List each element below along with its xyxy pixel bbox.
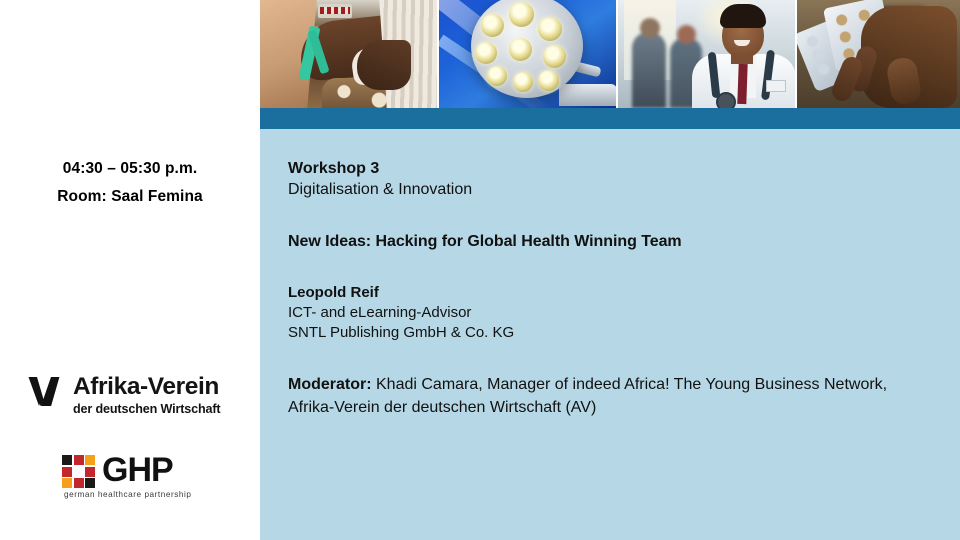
spacer-2 <box>288 252 946 283</box>
ghp-grid-cell-1 <box>74 455 84 465</box>
ghp-tagline: german healthcare partnership <box>64 490 191 499</box>
ghp-grid-cell-4 <box>74 467 84 477</box>
left-sidebar: 04:30 – 05:30 p.m. Room: Saal Femina Afr… <box>0 0 260 540</box>
speaker-organisation: SNTL Publishing GmbH & Co. KG <box>288 323 946 343</box>
right-panel: Workshop 3 Digitalisation & Innovation N… <box>260 0 960 540</box>
ghp-grid-cell-8 <box>85 478 95 488</box>
moderator-line: Moderator: Khadi Camara, Manager of inde… <box>288 373 888 419</box>
av-monogram-icon <box>27 375 65 407</box>
header-image-strip <box>260 0 960 108</box>
session-title: New Ideas: Hacking for Global Health Win… <box>288 231 946 252</box>
teal-divider-band <box>260 108 960 129</box>
moderator-label: Moderator: <box>288 376 372 393</box>
ghp-grid-cell-2 <box>85 455 95 465</box>
schedule-block: 04:30 – 05:30 p.m. Room: Saal Femina <box>0 155 260 211</box>
photo-blood-draw <box>260 0 437 108</box>
afrika-verein-wordmark: Afrika-Verein der deutschen Wirtschaft <box>73 374 220 417</box>
afrika-verein-subtitle: der deutschen Wirtschaft <box>73 402 220 417</box>
ghp-grid-cell-5 <box>85 467 95 477</box>
session-content-panel: Workshop 3 Digitalisation & Innovation N… <box>260 129 960 540</box>
ghp-grid-cell-7 <box>74 478 84 488</box>
photo-medication <box>797 0 960 108</box>
afrika-verein-title: Afrika-Verein <box>73 374 220 400</box>
session-room: Room: Saal Femina <box>0 183 260 211</box>
speaker-name: Leopold Reif <box>288 283 946 303</box>
afrika-verein-logo: Afrika-Verein der deutschen Wirtschaft <box>27 375 232 423</box>
workshop-subtitle: Digitalisation & Innovation <box>288 179 946 200</box>
ghp-grid-cell-0 <box>62 455 72 465</box>
session-time: 04:30 – 05:30 p.m. <box>0 155 260 183</box>
spacer-3 <box>288 343 946 373</box>
workshop-title: Workshop 3 <box>288 158 946 179</box>
spacer-1 <box>288 200 946 231</box>
photo-surgical-lamp <box>439 0 616 108</box>
ghp-grid-cell-6 <box>62 478 72 488</box>
ghp-wordmark: GHP <box>102 451 173 489</box>
moderator-text: Khadi Camara, Manager of indeed Africa! … <box>288 376 887 416</box>
ghp-grid-cell-3 <box>62 467 72 477</box>
speaker-role: ICT- and eLearning-Advisor <box>288 303 946 323</box>
photo-doctor <box>618 0 795 108</box>
ghp-grid-icon <box>62 455 95 488</box>
ghp-logo: GHP german healthcare partnership <box>62 455 202 501</box>
